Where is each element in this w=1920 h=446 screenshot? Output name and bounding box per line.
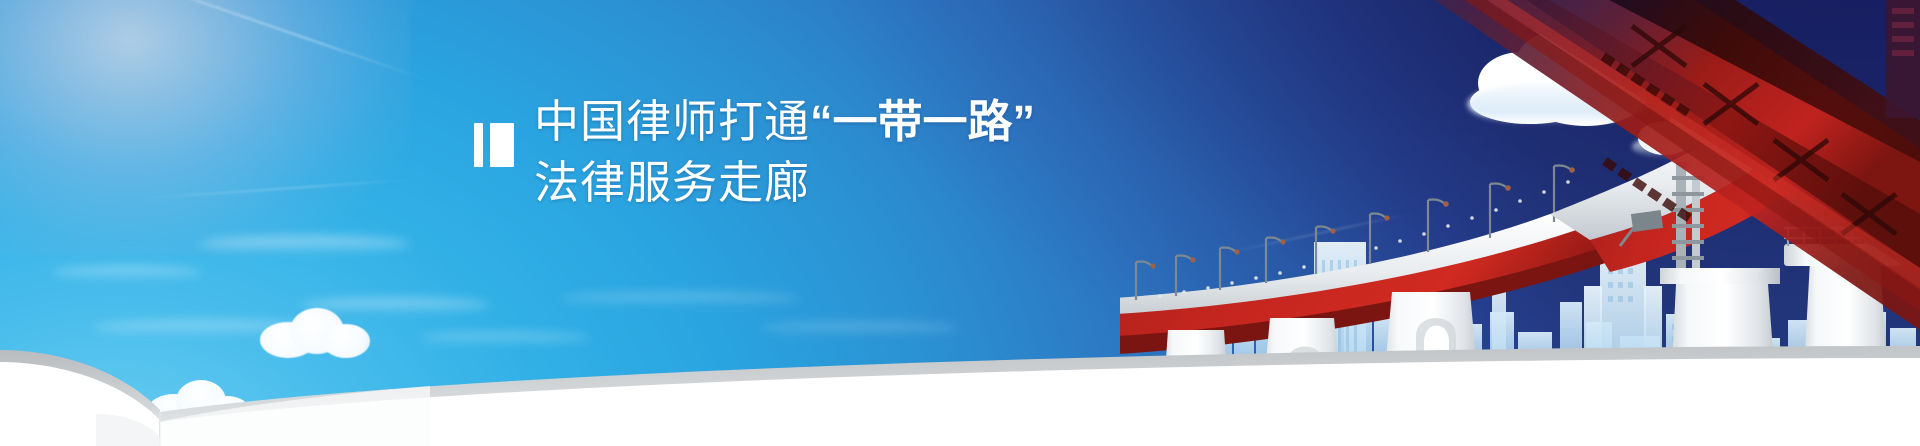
title-line-1-quoted: “一带一路” [810, 96, 1035, 147]
title-line-1-prefix: 中国律师打通 [534, 96, 810, 147]
title-line-2: 法律服务走廊 [534, 156, 1194, 209]
cloud-wisp [560, 292, 800, 305]
double-bar-mark-icon [474, 123, 514, 167]
open-book-pages [0, 316, 1920, 446]
cloud-wisp [200, 236, 410, 252]
sun-glow [0, 0, 410, 255]
banner-title-block: 中国律师打通“一带一路” 法律服务走廊 [474, 95, 1194, 209]
promo-banner: 中国律师打通“一带一路” 法律服务走廊 [0, 0, 1920, 446]
cloud-wisp [52, 266, 202, 279]
title-line-1: 中国律师打通“一带一路” [534, 95, 1194, 148]
